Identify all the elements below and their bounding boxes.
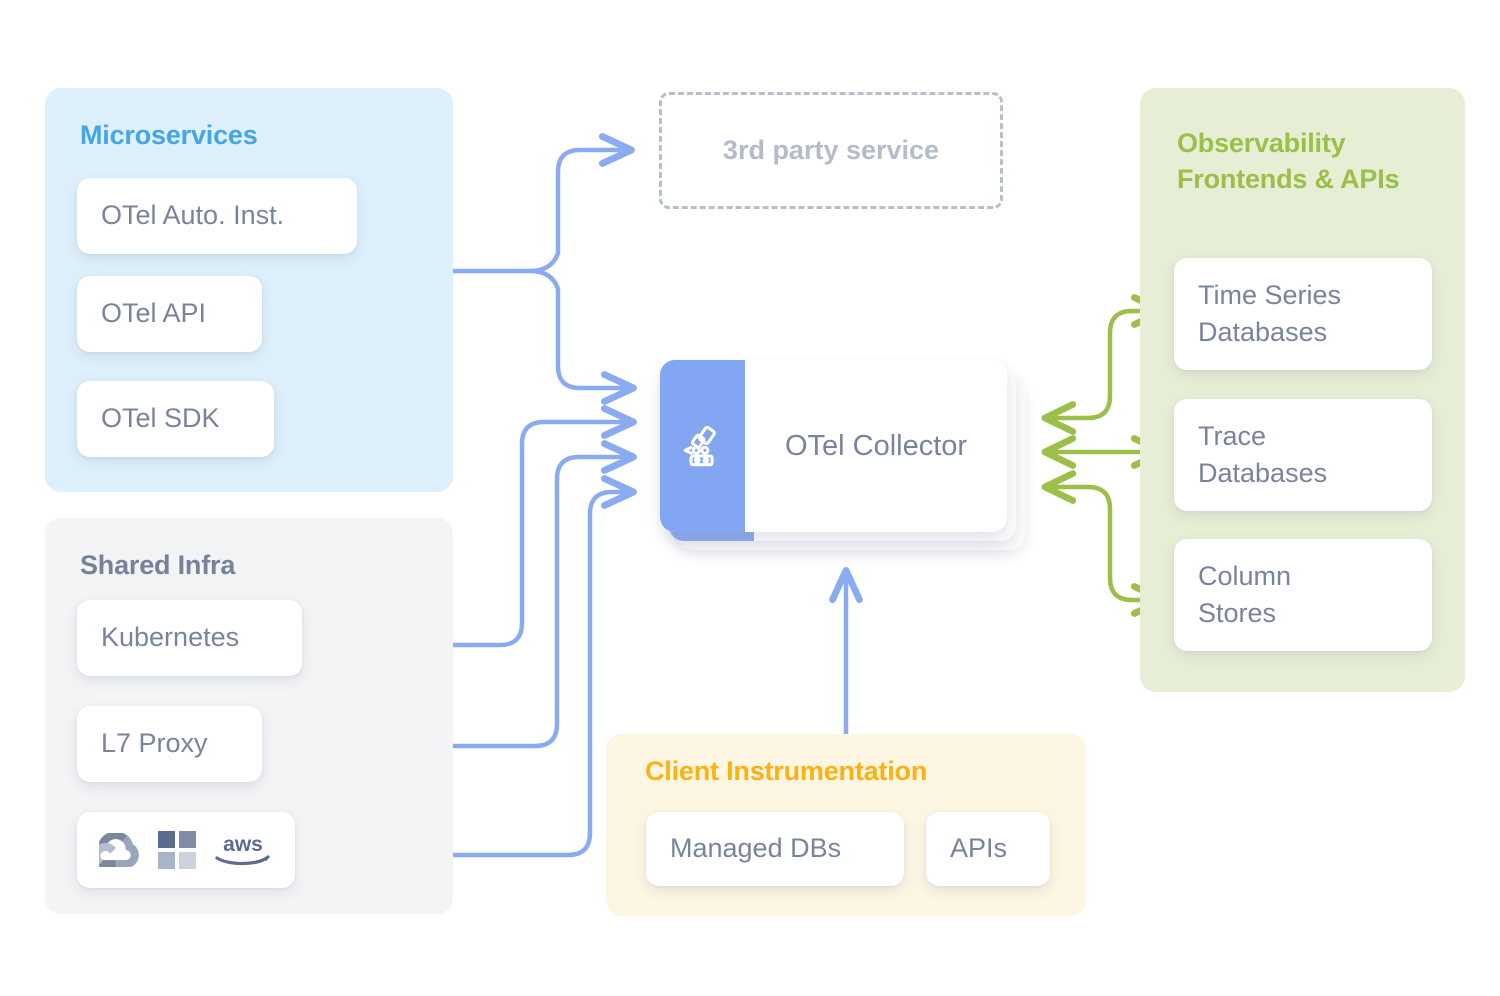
group-shared-infra-title: Shared Infra [80, 548, 235, 584]
card-label: Column Stores [1198, 558, 1291, 633]
group-microservices-title: Microservices [80, 118, 258, 154]
collector-label-wrap: OTel Collector [745, 360, 1007, 532]
card-label: OTel API [101, 295, 206, 332]
third-party-service-box[interactable]: 3rd party service [659, 92, 1003, 209]
wire-microservices-to-collector [530, 271, 634, 388]
group-observability-title: Observability Frontends & APIs [1177, 126, 1399, 197]
card-otel-auto-inst[interactable]: OTel Auto. Inst. [77, 178, 357, 254]
card-label: Trace Databases [1198, 418, 1327, 493]
card-label: Time Series Databases [1198, 277, 1341, 352]
aws-logo: aws [213, 832, 273, 868]
card-label: OTel SDK [101, 400, 220, 437]
collector-card[interactable]: OTel Collector [660, 360, 1007, 532]
wire-microservices-to-third-party [530, 150, 632, 271]
card-managed-dbs[interactable]: Managed DBs [646, 812, 904, 886]
card-label: L7 Proxy [101, 725, 208, 762]
card-otel-api[interactable]: OTel API [77, 276, 262, 352]
card-otel-sdk[interactable]: OTel SDK [77, 381, 274, 457]
card-cloud-providers[interactable]: aws [77, 812, 295, 888]
card-trace-databases[interactable]: Trace Databases [1174, 399, 1432, 511]
card-kubernetes[interactable]: Kubernetes [77, 600, 302, 676]
card-time-series-databases[interactable]: Time Series Databases [1174, 258, 1432, 370]
cloud-logo-row: aws [99, 830, 273, 870]
card-label: OTel Auto. Inst. [101, 197, 284, 234]
otel-collector-node[interactable]: OTel Collector [660, 360, 1025, 550]
google-cloud-logo [99, 833, 141, 867]
third-party-service-label: 3rd party service [723, 135, 939, 166]
collector-label: OTel Collector [785, 430, 967, 463]
card-l7-proxy[interactable]: L7 Proxy [77, 706, 262, 782]
card-label: Managed DBs [670, 830, 841, 867]
card-apis[interactable]: APIs [926, 812, 1050, 886]
telescope-icon [680, 423, 726, 469]
group-client-instrumentation-title: Client Instrumentation [645, 754, 927, 790]
card-column-stores[interactable]: Column Stores [1174, 539, 1432, 651]
svg-text:aws: aws [223, 833, 263, 856]
collector-accent-panel [660, 360, 745, 532]
card-label: Kubernetes [101, 619, 239, 656]
microsoft-azure-logo [157, 830, 197, 870]
card-label: APIs [950, 830, 1007, 867]
diagram-canvas: Microservices OTel Auto. Inst. OTel API … [0, 0, 1500, 996]
